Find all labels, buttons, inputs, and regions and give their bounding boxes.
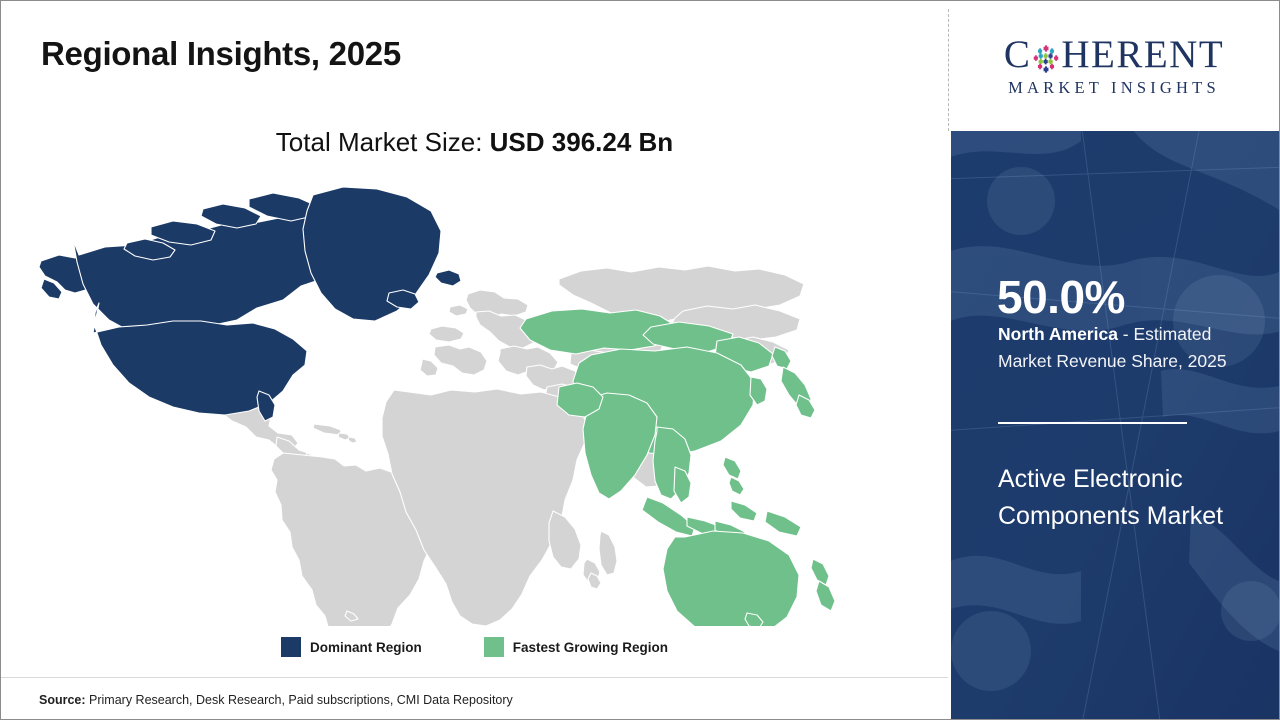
total-market-size-value: USD 396.24 Bn: [490, 127, 674, 157]
stat-region-name: North America: [998, 324, 1118, 344]
world-map-svg: [31, 181, 851, 626]
stat-divider-rule: [998, 422, 1187, 424]
stats-panel: 50.0% North America - Estimated Market R…: [951, 131, 1279, 719]
total-market-size-label: Total Market Size:: [276, 127, 490, 157]
source-divider: [1, 677, 948, 678]
source-label: Source:: [39, 693, 86, 707]
stats-panel-content: 50.0% North America - Estimated Market R…: [951, 131, 1279, 719]
left-content-pane: Regional Insights, 2025 Total Market Siz…: [1, 1, 948, 719]
legend-swatch-navy-icon: [281, 637, 301, 657]
dotted-globe-icon: [1032, 41, 1060, 69]
brand-logo: C: [949, 1, 1279, 131]
legend-item-dominant: Dominant Region: [281, 637, 422, 657]
logo-letter-c: C: [1004, 35, 1032, 74]
logo-wordmark: C: [1004, 35, 1224, 74]
market-name-title: Active Electronic Components Market: [998, 461, 1258, 534]
map-legend: Dominant Region Fastest Growing Region: [1, 637, 948, 657]
legend-label-dominant: Dominant Region: [310, 640, 422, 655]
infographic-canvas: Regional Insights, 2025 Total Market Siz…: [0, 0, 1280, 720]
legend-label-fastest-growing: Fastest Growing Region: [513, 640, 668, 655]
right-sidebar: C: [949, 1, 1279, 719]
page-title: Regional Insights, 2025: [41, 35, 401, 73]
logo-subtitle: MARKET INSIGHTS: [1008, 78, 1220, 98]
stat-percent-value: 50.0%: [997, 274, 1125, 320]
source-text: Primary Research, Desk Research, Paid su…: [86, 693, 513, 707]
stat-description: North America - Estimated Market Revenue…: [998, 321, 1246, 374]
map-region-north-america: [39, 187, 461, 421]
legend-item-fastest-growing: Fastest Growing Region: [484, 637, 668, 657]
total-market-size: Total Market Size: USD 396.24 Bn: [1, 127, 948, 158]
world-map-container: [31, 181, 851, 626]
source-note: Source: Primary Research, Desk Research,…: [39, 693, 513, 707]
logo-letters-herent: HERENT: [1061, 35, 1224, 74]
legend-swatch-green-icon: [484, 637, 504, 657]
